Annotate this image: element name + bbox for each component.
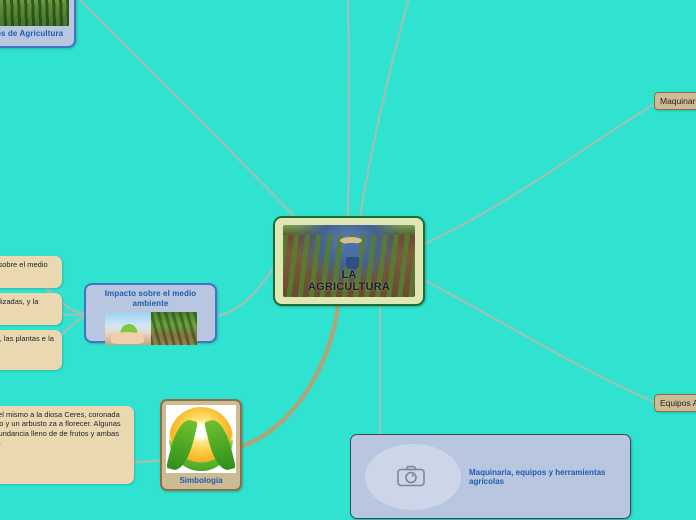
chip-equipos-agricolas[interactable]: Equipos A bbox=[654, 394, 696, 412]
impacto-node-images bbox=[91, 312, 210, 345]
impacto-node-label: Impacto sobre el medio ambiente bbox=[91, 289, 210, 309]
simbologia-emblem-image bbox=[166, 405, 236, 473]
simbologia-node-label: Simbología bbox=[166, 476, 236, 485]
note-varia[interactable]: varía de acuerdo utilizadas, y la bbox=[0, 293, 62, 325]
node-maquinaria-photo-placeholder[interactable]: Maquinaria, equipos y herramientas agríc… bbox=[350, 434, 631, 519]
tipos-node-label: ipos de Agricultura bbox=[0, 29, 69, 39]
chip-maquinaria[interactable]: Maquinari bbox=[654, 92, 696, 110]
central-node[interactable]: LA AGRICULTURA bbox=[273, 216, 425, 306]
node-impacto-medio-ambiente[interactable]: Impacto sobre el medio ambiente bbox=[84, 283, 217, 343]
mindmap-canvas: LA AGRICULTURA ipos de Agricultura Impac… bbox=[0, 0, 696, 520]
note-efecto[interactable]: es el efecto que en sobre el medio bbox=[0, 256, 62, 288]
note-suelo[interactable]: re el suelo, el sonas, las plantas e la … bbox=[0, 330, 62, 370]
green-plants-image bbox=[151, 312, 197, 345]
maquinaria-node-label: Maquinaria, equipos y herramientas agríc… bbox=[469, 468, 626, 486]
tipos-node-image bbox=[0, 0, 69, 26]
central-node-image: LA AGRICULTURA bbox=[283, 225, 415, 297]
hand-holding-earth-image bbox=[105, 312, 151, 345]
camera-icon bbox=[397, 465, 425, 487]
farmer-figure-icon bbox=[344, 237, 366, 271]
central-node-title: LA AGRICULTURA bbox=[283, 269, 415, 293]
node-tipos-de-agricultura[interactable]: ipos de Agricultura bbox=[0, 0, 76, 48]
note-ceres-simbologia[interactable]: ura se representa del mismo a la diosa C… bbox=[0, 406, 134, 484]
node-simbologia[interactable]: Simbología bbox=[160, 399, 242, 491]
